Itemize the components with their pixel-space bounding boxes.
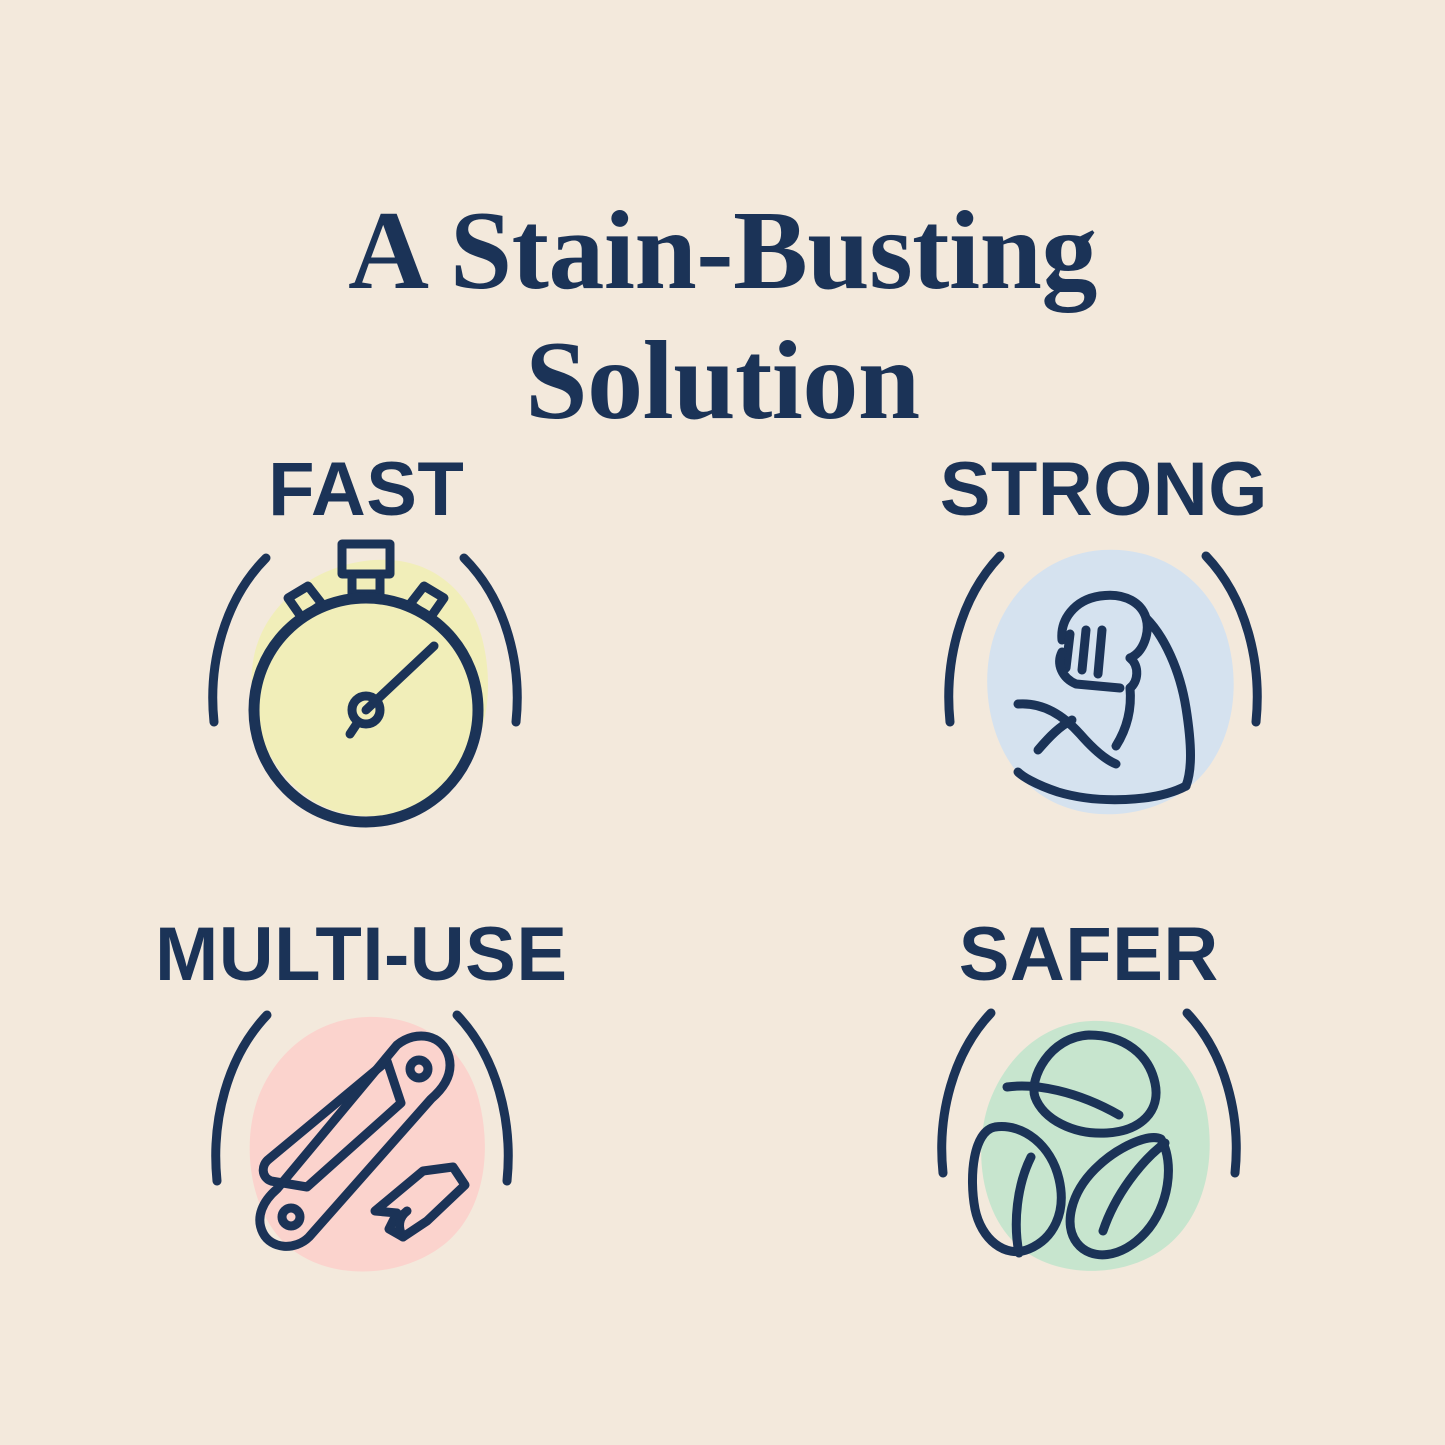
feature-grid: FAST [0, 452, 1445, 1382]
flexed-bicep-icon [934, 534, 1274, 834]
feature-label-safer: SAFER [959, 917, 1219, 993]
feature-safer: SAFER [723, 917, 1445, 1382]
pocket-knife-icon [191, 999, 531, 1299]
feature-fast: FAST [0, 452, 723, 917]
feature-label-multi-use: MULTI-USE [155, 917, 568, 993]
feature-multi-use: MULTI-USE [0, 917, 723, 1382]
infographic-poster: A Stain-Busting Solution FAST [0, 0, 1445, 1445]
feature-label-strong: STRONG [940, 452, 1268, 528]
three-leaves-icon [919, 999, 1259, 1299]
feature-strong: STRONG [723, 452, 1445, 917]
page-title: A Stain-Busting Solution [0, 187, 1445, 447]
feature-label-fast: FAST [268, 452, 464, 528]
stopwatch-icon [196, 534, 536, 834]
